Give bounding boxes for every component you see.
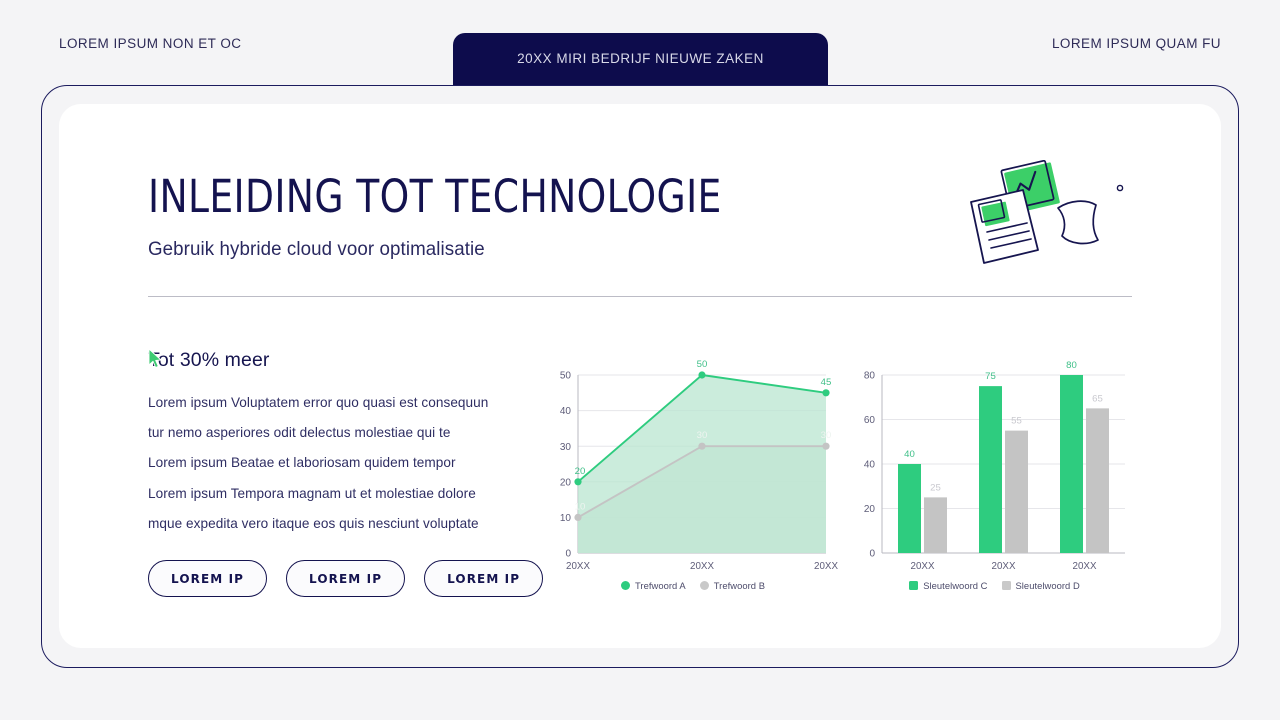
y-axis-tick-label: 10 [560,513,572,524]
y-axis-tick-label: 20 [560,477,572,488]
body-line: Lorem ipsum Voluptatem error quo quasi e… [148,388,528,418]
bar-value-label: 65 [1092,393,1103,404]
y-axis-tick-label: 80 [864,371,876,382]
data-point [698,371,705,378]
dot-accent-icon [1117,185,1122,190]
data-point [822,389,829,396]
documents-chart-illustration [958,160,1138,280]
bar [979,386,1002,553]
bar [1086,408,1109,553]
legend-swatch-icon [909,581,918,590]
illustration-svg [958,160,1138,280]
legend-label: Sleutelwoord C [923,580,987,591]
cta-button-row: LOREM IP LOREM IP LOREM IP [148,560,543,597]
bar-value-label: 55 [1011,416,1022,427]
y-axis-tick-label: 50 [560,371,572,382]
topbar-left-label: LOREM IPSUM NON ET OC [59,36,241,51]
legend-swatch-icon [1002,581,1011,590]
y-axis-tick-label: 20 [864,504,876,515]
line-chart-canvas: 0102030405020504510303020XX20XX20XX [548,352,838,577]
y-axis-tick-label: 40 [864,460,876,471]
bar-value-label: 80 [1066,360,1077,371]
data-point [822,443,829,450]
bar-chart: 020406080402520XX755520XX806520XX Sleute… [852,352,1137,600]
legend-item-trefwoord-b[interactable]: Trefwoord B [700,580,765,591]
y-axis-tick-label: 0 [869,549,875,560]
line-chart: 0102030405020504510303020XX20XX20XX Tref… [548,352,838,600]
y-axis-tick-label: 30 [560,442,572,453]
legend-item-sleutelwoord-d[interactable]: Sleutelwoord D [1002,580,1080,591]
legend-item-sleutelwoord-c[interactable]: Sleutelwoord C [909,580,987,591]
line-chart-legend: Trefwoord A Trefwoord B [548,580,838,591]
legend-swatch-icon [700,581,709,590]
data-point-label: 20 [575,466,586,477]
bar [1005,431,1028,553]
legend-swatch-icon [621,581,630,590]
x-axis-tick-label: 20XX [814,561,838,572]
bar-value-label: 75 [985,371,996,382]
x-axis-tick-label: 20XX [911,561,935,572]
data-point-label: 30 [697,430,708,441]
stat-kicker: Tot 30% meer [148,346,528,374]
bar-value-label: 25 [930,482,941,493]
top-bar: LOREM IPSUM NON ET OC 20XX MIRI BEDRIJF … [0,0,1280,86]
bar-chart-canvas: 020406080402520XX755520XX806520XX [852,352,1137,577]
y-axis-tick-label: 0 [565,549,571,560]
bar-value-label: 40 [904,449,915,460]
header-divider [148,296,1132,297]
body-line: Lorem ipsum Tempora magnam ut et molesti… [148,479,528,509]
legend-label: Sleutelwoord D [1016,580,1080,591]
cta-button-2[interactable]: LOREM IP [286,560,405,597]
page-subtitle: Gebruik hybride cloud voor optimalisatie [148,236,485,263]
x-axis-tick-label: 20XX [992,561,1016,572]
body-line: Lorem ipsum Beatae et laboriosam quidem … [148,448,528,478]
area-fill [578,375,826,553]
data-point-label: 30 [821,430,832,441]
data-point-label: 50 [697,359,708,370]
cta-button-1[interactable]: LOREM IP [148,560,267,597]
bar-chart-legend: Sleutelwoord C Sleutelwoord D [852,580,1137,591]
legend-label: Trefwoord A [635,580,686,591]
left-content-column: Tot 30% meer Lorem ipsum Voluptatem erro… [148,346,528,539]
topbar-banner-title: 20XX MIRI BEDRIJF NIEUWE ZAKEN [517,51,764,69]
x-axis-tick-label: 20XX [690,561,714,572]
data-point [698,443,705,450]
cta-button-3[interactable]: LOREM IP [424,560,543,597]
topbar-right-label: LOREM IPSUM QUAM FU [1052,36,1221,51]
body-line: mque expedita vero itaque eos quis nesci… [148,509,528,539]
bar [1060,375,1083,553]
x-axis-tick-label: 20XX [566,561,590,572]
data-point [574,514,581,521]
legend-label: Trefwoord B [714,580,765,591]
y-axis-tick-label: 60 [864,415,876,426]
data-point [574,478,581,485]
data-point-label: 45 [821,377,832,388]
bar [898,464,921,553]
bar [924,497,947,553]
curled-paper-shape [1058,201,1098,243]
x-axis-tick-label: 20XX [1073,561,1097,572]
legend-item-trefwoord-a[interactable]: Trefwoord A [621,580,686,591]
y-axis-tick-label: 40 [560,406,572,417]
body-copy: Lorem ipsum Voluptatem error quo quasi e… [148,388,528,539]
page-title: INLEIDING TOT TECHNOLOGIE [148,172,722,222]
topbar-banner: 20XX MIRI BEDRIJF NIEUWE ZAKEN [453,33,828,86]
data-point-label: 10 [575,501,586,512]
body-line: tur nemo asperiores odit delectus molest… [148,418,528,448]
